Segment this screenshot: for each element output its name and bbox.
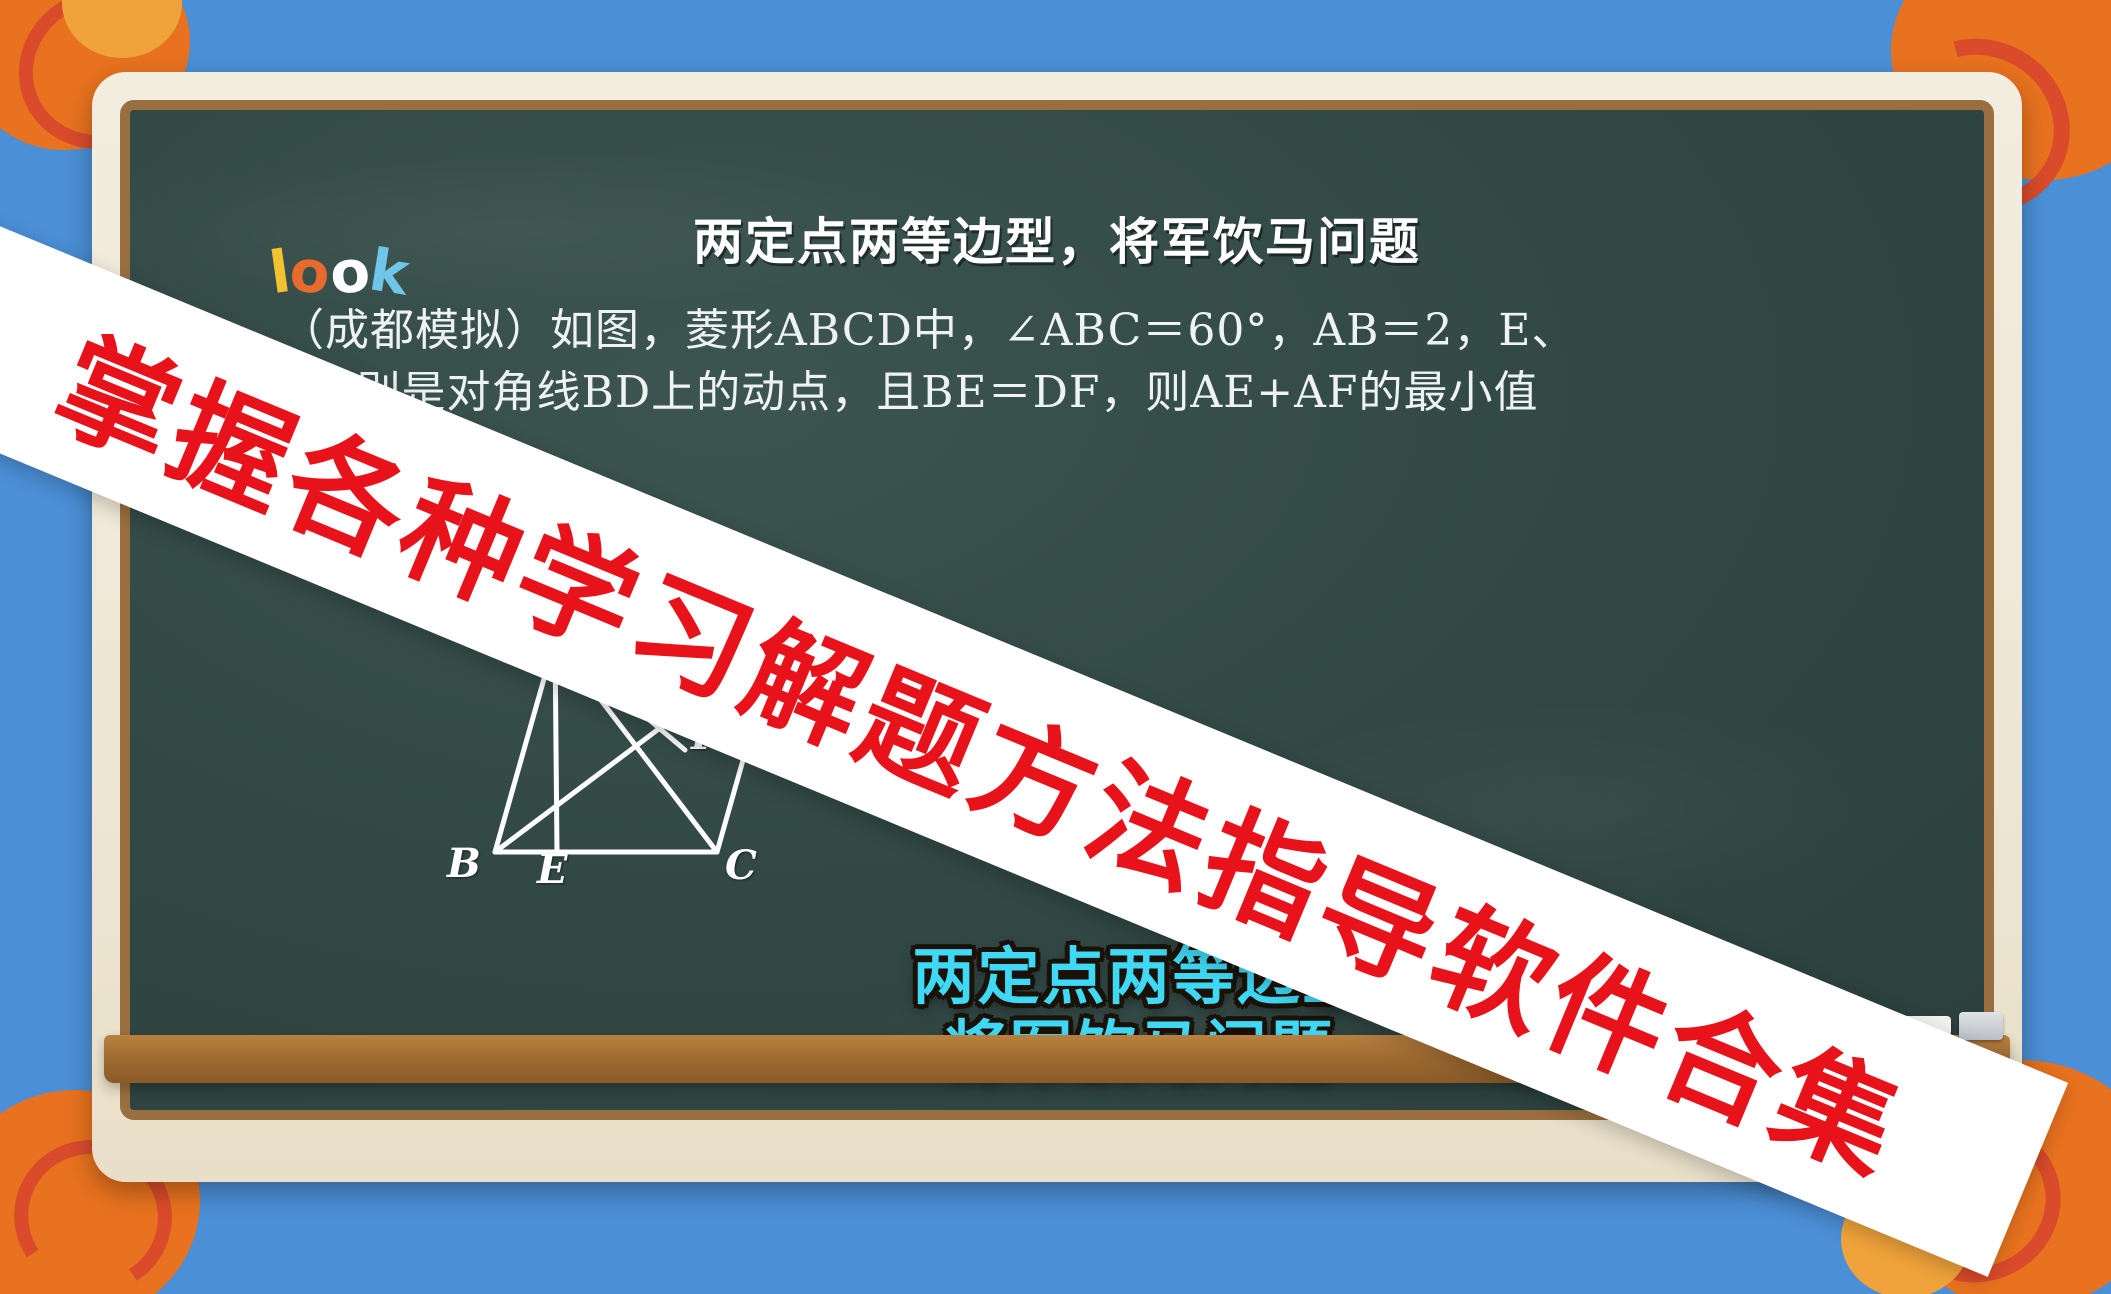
board-title: 两定点两等边型，将军饮马问题 <box>130 202 1984 274</box>
vertex-label-E: E <box>537 846 568 893</box>
eraser-icon <box>1959 1012 2003 1040</box>
page-root: look 两定点两等边型，将军饮马问题 （成都模拟）如图，菱形ABCD中，∠AB… <box>0 0 2111 1294</box>
vertex-label-C: C <box>725 842 757 889</box>
decor-blob-top-left-2 <box>62 0 182 58</box>
vertex-label-B: B <box>447 840 481 887</box>
problem-line-2: F分别是对角线BD上的动点，且BE＝DF，则AE+AF的最小值 <box>280 362 1902 424</box>
problem-line-1: （成都模拟）如图，菱形ABCD中，∠ABC＝60°，AB＝2，E、 <box>280 300 1902 362</box>
